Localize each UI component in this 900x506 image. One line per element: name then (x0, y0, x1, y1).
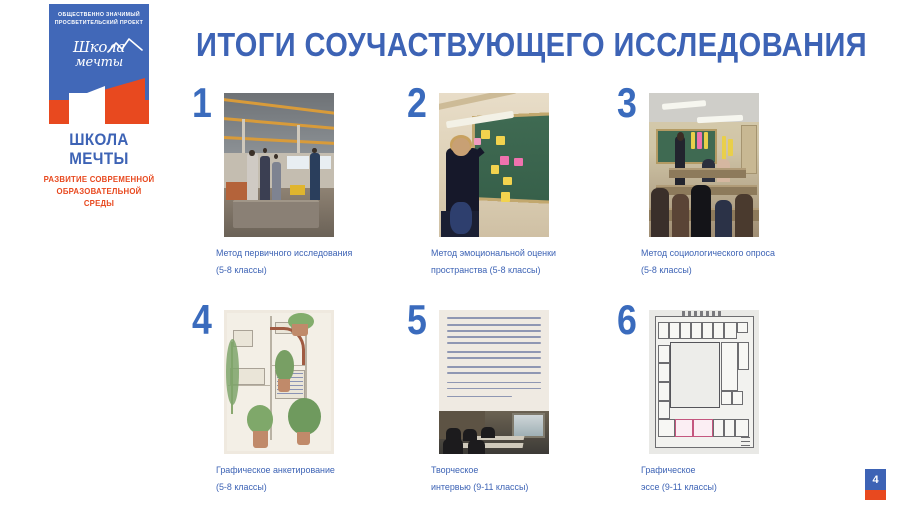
logo-name: ШКОЛА МЕЧТЫ (41, 131, 157, 169)
method-caption-5: Творческое интервью (9-11 классы) (431, 461, 612, 496)
method-caption-4-line1: Графическое анкетирование (216, 461, 397, 478)
page-number-value: 4 (865, 469, 886, 490)
method-number-6: 6 (617, 299, 637, 341)
method-photo-3 (649, 93, 759, 237)
method-caption-2-line2: пространства (5-8 классы) (431, 261, 612, 278)
method-photo-5 (439, 310, 549, 454)
photo-handwritten-page (439, 310, 549, 411)
photo-floor-plan (649, 310, 759, 454)
method-number-2: 2 (407, 82, 427, 124)
photo-industrial-workshop (224, 93, 334, 237)
method-caption-3: Метод социологического опроса (5-8 класс… (641, 244, 822, 279)
photo-classroom-interview (439, 411, 549, 454)
method-caption-1-line1: Метод первичного исследования (216, 244, 397, 261)
method-photo-6 (649, 310, 759, 454)
logo-tagline-line1: ОБЩЕСТВЕННО ЗНАЧИМЫЙ (58, 12, 140, 18)
method-caption-2-line1: Метод эмоциональной оценки (431, 244, 612, 261)
logo-house-icon (49, 86, 149, 124)
photo-stack-interview (439, 310, 549, 454)
logo-tagline-line2: ПРОСВЕТИТЕЛЬСКИЙ ПРОЕКТ (55, 20, 143, 26)
logo-script-text: Школа мечты (49, 40, 149, 69)
slide-root: ОБЩЕСТВЕННО ЗНАЧИМЫЙ ПРОСВЕТИТЕЛЬСКИЙ ПР… (0, 0, 900, 506)
method-caption-1: Метод первичного исследования (5-8 класс… (216, 244, 397, 279)
method-number-3: 3 (617, 82, 637, 124)
method-caption-1-line2: (5-8 классы) (216, 261, 397, 278)
photo-classroom-survey (649, 93, 759, 237)
method-caption-3-line2: (5-8 классы) (641, 261, 822, 278)
method-number-1: 1 (192, 82, 212, 124)
method-caption-6-line2: эссе (9-11 классы) (641, 478, 822, 495)
method-photo-4 (224, 310, 334, 454)
logo-script-line2: мечты (49, 56, 149, 69)
method-caption-2: Метод эмоциональной оценки пространства … (431, 244, 612, 279)
method-caption-3-line1: Метод социологического опроса (641, 244, 822, 261)
method-caption-5-line2: интервью (9-11 классы) (431, 478, 612, 495)
photo-pencil-drawing-plants (224, 310, 334, 454)
method-photo-2 (439, 93, 549, 237)
logo-sub-line2: ОБРАЗОВАТЕЛЬНОЙ СРЕДЫ (57, 186, 142, 208)
method-number-4: 4 (192, 299, 212, 341)
page-number-badge: 4 (865, 469, 886, 500)
method-photo-1 (224, 93, 334, 237)
method-caption-6: Графическое эссе (9-11 классы) (641, 461, 822, 496)
logo-sub-line1: РАЗВИТИЕ СОВРЕМЕННОЙ (44, 174, 155, 184)
logo-script-line1: Школа (73, 38, 125, 56)
method-caption-6-line1: Графическое (641, 461, 822, 478)
method-caption-4-line2: (5-8 классы) (216, 478, 397, 495)
methods-grid: 1 Метод первичного ис (190, 84, 850, 498)
photo-sticky-notes-chalkboard (439, 93, 549, 237)
logo-subtitle: РАЗВИТИЕ СОВРЕМЕННОЙ ОБРАЗОВАТЕЛЬНОЙ СРЕ… (40, 173, 157, 210)
method-caption-4: Графическое анкетирование (5-8 классы) (216, 461, 397, 496)
method-caption-5-line1: Творческое (431, 461, 612, 478)
project-logo: ОБЩЕСТВЕННО ЗНАЧИМЫЙ ПРОСВЕТИТЕЛЬСКИЙ ПР… (36, 4, 162, 210)
logo-tagline: ОБЩЕСТВЕННО ЗНАЧИМЫЙ ПРОСВЕТИТЕЛЬСКИЙ ПР… (52, 11, 146, 28)
page-title: ИТОГИ СОУЧАСТВУЮЩЕГО ИССЛЕДОВАНИЯ (196, 28, 867, 61)
logo-mark: ОБЩЕСТВЕННО ЗНАЧИМЫЙ ПРОСВЕТИТЕЛЬСКИЙ ПР… (49, 4, 149, 124)
method-number-5: 5 (407, 299, 427, 341)
